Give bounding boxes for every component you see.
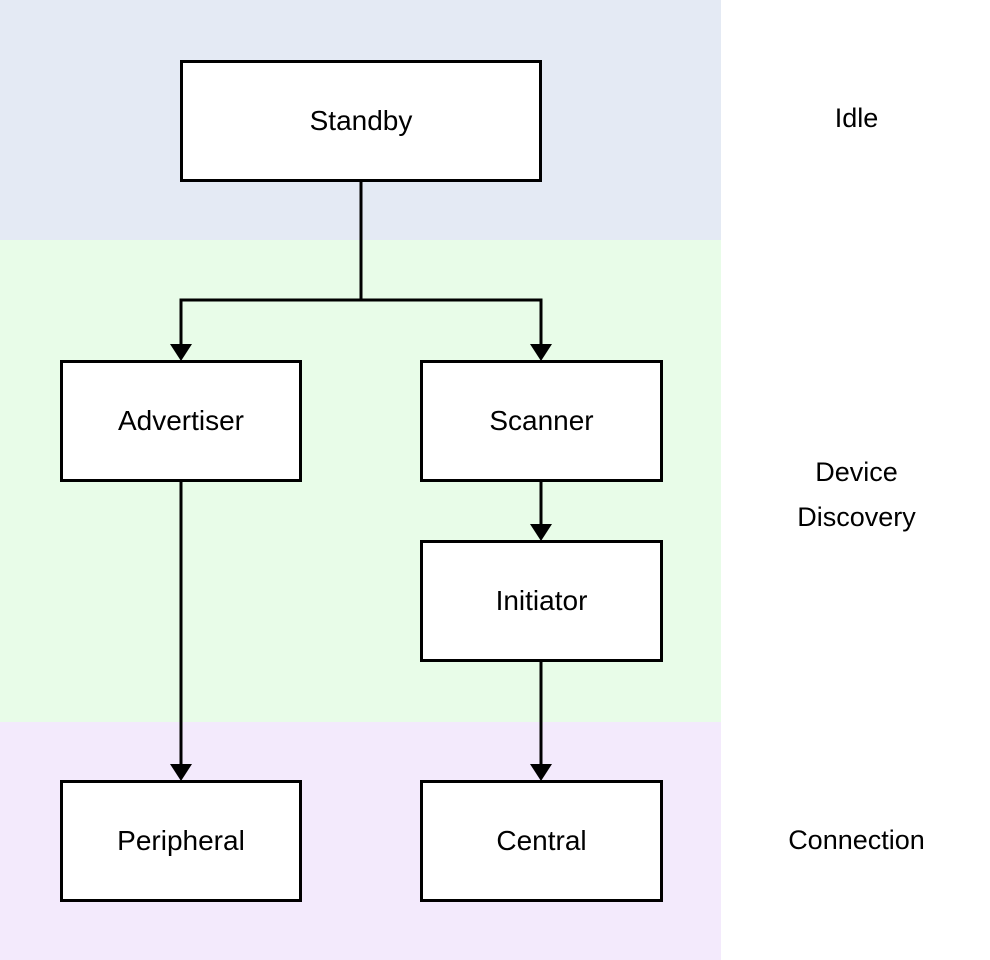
state-node-scanner[interactable]: Scanner bbox=[420, 360, 663, 482]
state-node-label: Central bbox=[496, 825, 586, 857]
state-node-advertiser[interactable]: Advertiser bbox=[60, 360, 302, 482]
state-node-initiator[interactable]: Initiator bbox=[420, 540, 663, 662]
band-label-idle: Idle bbox=[723, 96, 990, 141]
state-node-label: Peripheral bbox=[117, 825, 245, 857]
state-node-label: Scanner bbox=[489, 405, 593, 437]
state-node-label: Standby bbox=[310, 105, 413, 137]
diagram-canvas: Standby Advertiser Scanner Initiator Per… bbox=[0, 0, 990, 960]
state-node-central[interactable]: Central bbox=[420, 780, 663, 902]
band-label-device-discovery: Device Discovery bbox=[723, 450, 990, 540]
state-node-peripheral[interactable]: Peripheral bbox=[60, 780, 302, 902]
state-node-label: Initiator bbox=[496, 585, 588, 617]
band-label-connection: Connection bbox=[723, 818, 990, 863]
state-node-standby[interactable]: Standby bbox=[180, 60, 542, 182]
state-node-label: Advertiser bbox=[118, 405, 244, 437]
